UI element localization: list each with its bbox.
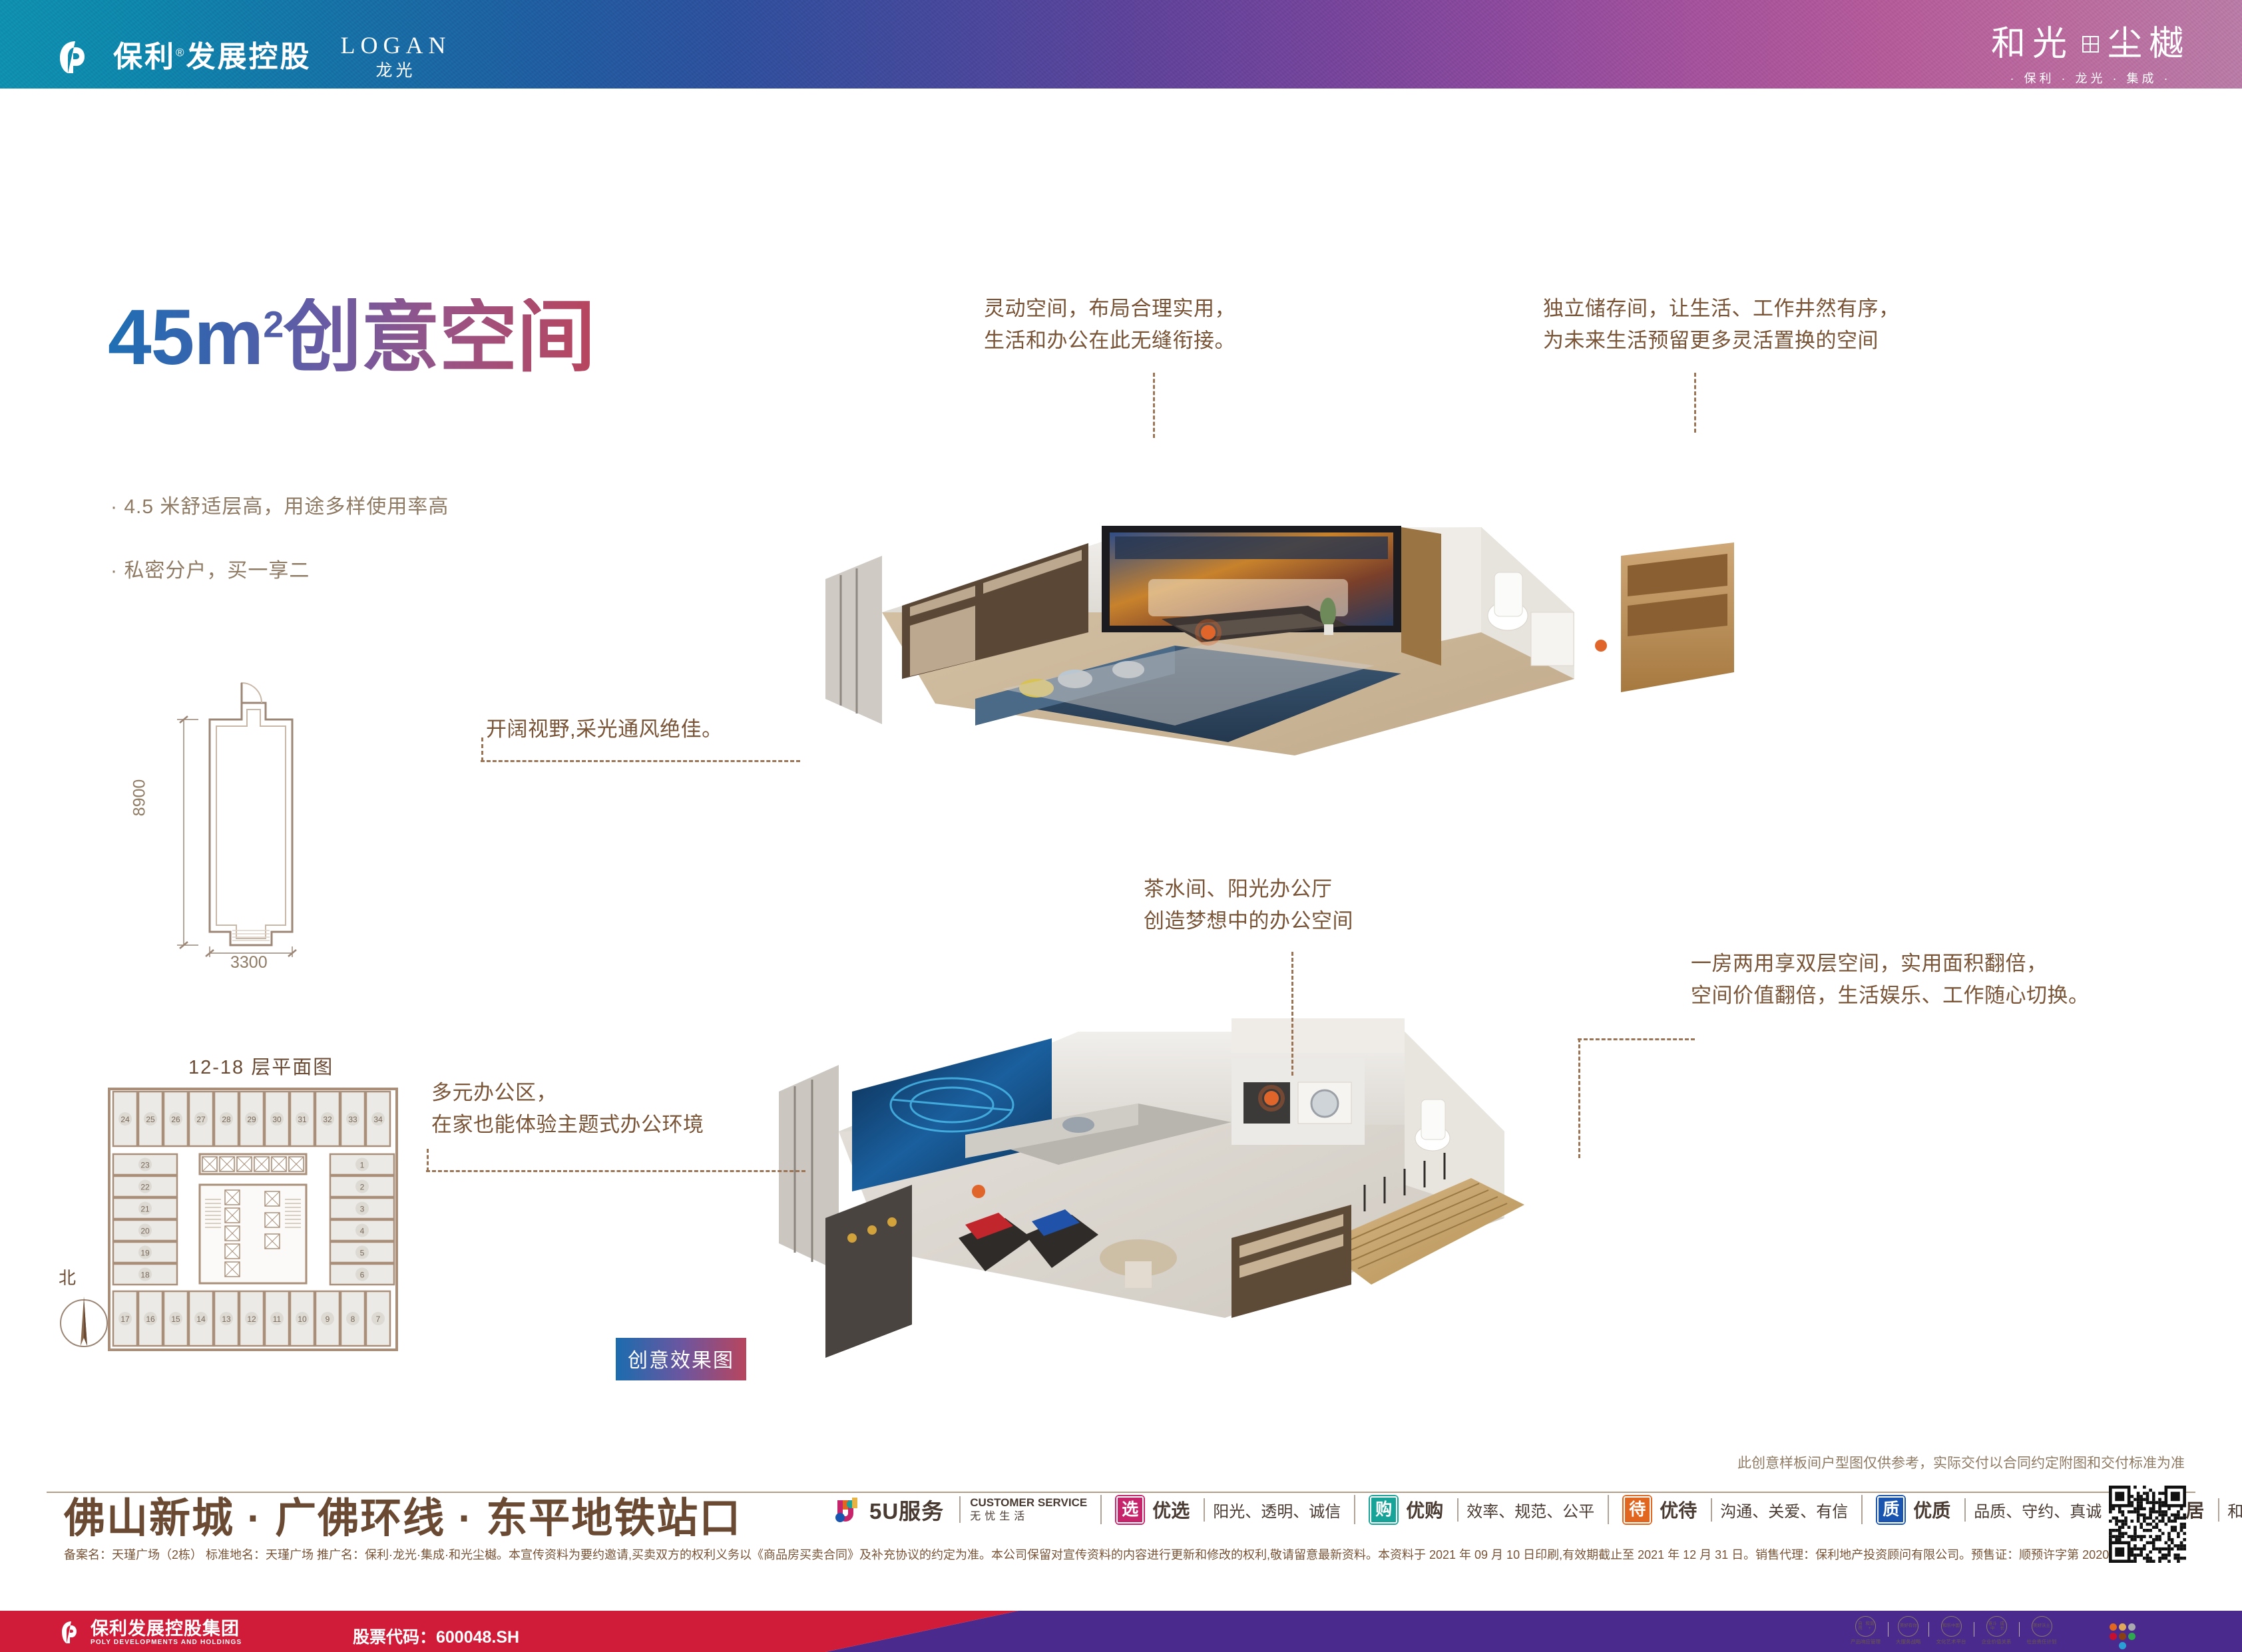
service-badges: 5U服务 CUSTOMER SERVICE 无忧生活 选 优选 阳光、透明、诚信… (833, 1494, 2242, 1526)
leader-top-right (1694, 373, 1696, 433)
unit-number: 28 (222, 1115, 231, 1124)
page-title: 45m2创意空间 (108, 298, 594, 377)
brand-value-caption: 产品响应管理 (1851, 1638, 1881, 1645)
callout-mid-right-line1: 一房两用享双层空间，实用面积翻倍， (1691, 948, 2090, 980)
leader-mid-right (1578, 1038, 1695, 1040)
location-slogan: 佛山新城 · 广佛环线 · 东平地铁站口 (64, 1484, 742, 1544)
youzhi-name: 优质 (1913, 1496, 1950, 1523)
legal-fineprint: 备案名：天瑾广场（2栋） 标准地名：天瑾广场 推广名：保利·龙光·集成·和光尘樾… (64, 1546, 2149, 1563)
unit-number: 9 (326, 1315, 330, 1324)
brand-value-icon: 和乐中国文化艺术平台 (1936, 1616, 1966, 1645)
unit-number: 18 (140, 1271, 150, 1280)
unit-number: 22 (140, 1183, 150, 1192)
unit-number: 6 (360, 1271, 365, 1280)
poly-logo-icon (57, 39, 93, 75)
bottom-bar: 保利发展控股集团 POLY DEVELOPMENTS AND HOLDINGS … (0, 1611, 2242, 1652)
service-5u-logo: 5U服务 CUSTOMER SERVICE 无忧生活 (833, 1494, 1087, 1526)
unit-number: 26 (171, 1115, 180, 1124)
brand-value-ring-icon: 奋斗中成长 (1986, 1616, 2007, 1637)
unit-number: 5 (360, 1249, 365, 1258)
divider (1354, 1495, 1355, 1524)
brand-value-caption: 文化艺术平台 (1936, 1638, 1966, 1645)
page-header: 保利®发展控股 LOGAN 龙光 和光 尘樾 · 保利 · 龙光 · 集成 · (0, 0, 2242, 89)
service-title: 5U服务 (869, 1494, 944, 1526)
leader-mid-left-tick (481, 737, 483, 761)
unit-number: 12 (247, 1315, 256, 1324)
callout-top-right-line1: 独立储存间，让生活、工作井然有序， (1543, 293, 1900, 325)
callout-bottom-left: 多元办公区， 在家也能体验主题式办公环境 (431, 1077, 704, 1141)
unit-number: 11 (273, 1315, 282, 1324)
dots-grid-icon (2110, 1623, 2135, 1649)
unit-number: 10 (298, 1315, 307, 1324)
unit-plan-height-dim: 8900 (130, 779, 149, 817)
divider (1608, 1495, 1609, 1524)
render-image-lower (766, 925, 1717, 1384)
leader-top-center (1153, 373, 1155, 438)
stock-code: 股票代码：600048.SH (353, 1624, 519, 1648)
callout-top-center: 灵动空间，布局合理实用， 生活和办公在此无缝衔接。 (984, 293, 1235, 357)
five-u-icon (833, 1495, 863, 1524)
poly-brand-cn: 保利 (113, 41, 176, 73)
qr-code[interactable] (2109, 1486, 2186, 1563)
divider (2019, 1622, 2020, 1637)
youxuan-desc: 阳光、透明、诚信 (1204, 1498, 1341, 1522)
floor-plan-diagram: 2425262728293031323334171615141312111098… (100, 1080, 406, 1359)
unit-number: 23 (140, 1161, 150, 1170)
unit-number: 16 (146, 1315, 155, 1324)
year-text-block: 2020 美好更好 不 负 产 生 名 美 好 平 台 (2141, 1617, 2227, 1652)
render-disclaimer: 此创意样板间户型图仅供参考，实际交付以合同约定附图和交付标准为准 (1737, 1452, 2185, 1472)
yougou-name: 优购 (1406, 1496, 1443, 1523)
youxuan-icon: 选 (1115, 1495, 1145, 1525)
unit-number: 1 (360, 1161, 365, 1170)
brand-value-ring-icon: 美好沃土 (2032, 1616, 2052, 1637)
callout-mid-left-line1: 开阔视野,采光通风绝佳。 (486, 714, 723, 745)
header-logos: 保利®发展控股 LOGAN 龙光 (57, 33, 451, 81)
service-item-yougou: 购 优购 效率、规范、公平 (1369, 1495, 1594, 1525)
unit-number: 13 (222, 1315, 231, 1324)
registered-icon: ® (176, 46, 186, 59)
poly-brand-cn2: 发展控股 (186, 41, 312, 73)
unit-number: 20 (140, 1227, 150, 1236)
brand-value-icon: 奋斗中成长企业价值关系 (1982, 1616, 2012, 1645)
callout-top-right-line2: 为未来生活预留更多灵活置换的空间 (1543, 325, 1900, 357)
yougou-desc: 效率、规范、公平 (1457, 1498, 1594, 1522)
unit-number: 24 (120, 1115, 130, 1124)
yougou-icon: 购 (1369, 1495, 1399, 1525)
brand-value-caption: 企业价值关系 (1982, 1638, 2012, 1645)
unit-number: 15 (171, 1315, 180, 1324)
unit-number: 2 (360, 1183, 365, 1192)
unit-plan-width-dim: 3300 (230, 953, 268, 972)
callout-mid-left: 开阔视野,采光通风绝佳。 (486, 714, 723, 745)
service-en-sub: 无忧生活 (970, 1510, 1087, 1524)
year-cn: 美好更好 (2141, 1635, 2227, 1651)
callout-mid-right: 一房两用享双层空间，实用面积翻倍， 空间价值翻倍，生活娱乐、工作随心切换。 (1691, 948, 2090, 1012)
floor-plan-title: 12-18 层平面图 (188, 1052, 334, 1080)
logan-en-text: LOGAN (341, 33, 451, 59)
hero-bullet-1: · 4.5 米舒适层高，用途多样使用率高 (111, 490, 449, 519)
project-name: 和光 尘樾 (1991, 27, 2190, 61)
brand-value-ring-icon: 和乐中国 (1941, 1616, 1962, 1637)
brand-value-caption: 大服务战略 (1896, 1638, 1921, 1645)
unit-number: 27 (196, 1115, 206, 1124)
callout-mid-center-line2: 创造梦想中的办公空间 (1144, 905, 1353, 937)
youju-desc: 和睦、关怀、亲情 (2218, 1498, 2242, 1522)
poly-brand-text: 保利®发展控股 (113, 43, 312, 72)
leader-bottom-left (426, 1170, 805, 1172)
unit-number: 25 (146, 1115, 155, 1124)
service-en-title: CUSTOMER SERVICE (970, 1496, 1087, 1510)
hero-title-num: 45m (108, 294, 263, 381)
youdai-name: 优待 (1660, 1496, 1697, 1523)
callout-bottom-left-line2: 在家也能体验主题式办公环境 (431, 1109, 704, 1141)
logan-cn-text: 龙光 (376, 60, 416, 82)
status-badge: 创意效果图 (616, 1338, 746, 1380)
youxuan-name: 优选 (1152, 1496, 1190, 1523)
callout-mid-right-line2: 空间价值翻倍，生活娱乐、工作随心切换。 (1691, 980, 2090, 1012)
year-campaign-logo: 2020 美好更好 不 负 产 生 名 美 好 平 台 (2110, 1617, 2227, 1652)
project-logo: 和光 尘樾 · 保利 · 龙光 · 集成 · (1991, 27, 2190, 87)
unit-number: 21 (140, 1205, 150, 1214)
unit-number: 30 (272, 1115, 282, 1124)
unit-outline-plan: 8900 3300 (124, 671, 410, 957)
leader-mid-right-drop (1578, 1038, 1580, 1158)
callout-mid-center-line1: 茶水间、阳光办公厅 (1144, 873, 1353, 905)
yougou-glyph: 购 (1370, 1496, 1397, 1524)
divider (1974, 1622, 1974, 1637)
project-name-a: 和光 (1991, 27, 2074, 61)
youdai-glyph: 待 (1624, 1496, 1651, 1524)
service-item-youdai: 待 优待 沟通、关爱、有信 (1622, 1495, 1848, 1525)
leader-mid-left (481, 760, 800, 762)
hero-bullet-2: · 私密分户，买一享二 (111, 554, 449, 583)
leader-bottom-left-tick (427, 1149, 429, 1171)
service-item-youzhi: 质 优质 品质、守约、真诚 (1876, 1495, 2102, 1525)
unit-number: 34 (373, 1115, 383, 1124)
unit-number: 8 (351, 1315, 355, 1324)
compass-icon (59, 1271, 132, 1358)
youdai-icon: 待 (1622, 1495, 1652, 1525)
poly-group-en: POLY DEVELOPMENTS AND HOLDINGS (91, 1639, 242, 1646)
render-image-upper (802, 413, 1831, 825)
hero-title-sup: 2 (263, 304, 283, 345)
unit-number: 29 (247, 1115, 256, 1124)
brand-value-ring-icon: 美好有你 (1898, 1616, 1918, 1637)
callout-top-center-line2: 生活和办公在此无缝衔接。 (984, 325, 1235, 357)
callout-top-right: 独立储存间，让生活、工作井然有序， 为未来生活预留更多灵活置换的空间 (1543, 293, 1900, 357)
leader-mid-center (1291, 952, 1293, 1076)
unit-number: 3 (360, 1205, 365, 1214)
youxuan-glyph: 选 (1116, 1496, 1144, 1524)
brand-value-caption: 社会责任计划 (2027, 1638, 2057, 1645)
brand-value-icon: 自然和谐+产品响应管理 (1851, 1616, 1881, 1645)
unit-number: 31 (298, 1115, 307, 1124)
brand-value-icons: 自然和谐+产品响应管理美好有你大服务战略和乐中国文化艺术平台奋斗中成长企业价值关… (1851, 1616, 2057, 1645)
service-en-block: CUSTOMER SERVICE 无忧生活 (959, 1496, 1087, 1523)
divider (1888, 1622, 1889, 1637)
brochure-page: 保利®发展控股 LOGAN 龙光 和光 尘樾 · 保利 · 龙光 · 集成 · … (0, 0, 2242, 1652)
youzhi-icon: 质 (1876, 1495, 1906, 1525)
divider (1100, 1495, 1102, 1524)
unit-number: 19 (140, 1249, 150, 1258)
hero-bullet-list: · 4.5 米舒适层高，用途多样使用率高 · 私密分户，买一享二 (111, 490, 449, 618)
poly-mark-icon (60, 1620, 83, 1645)
unit-number: 4 (360, 1227, 365, 1236)
poly-group-cn: 保利发展控股集团 (91, 1620, 242, 1639)
window-square-icon (2082, 36, 2099, 53)
year-number: 2020 (2141, 1617, 2227, 1635)
unit-number: 33 (348, 1115, 357, 1124)
brand-value-ring-icon: 自然和谐+ (1855, 1616, 1876, 1637)
unit-number: 7 (376, 1315, 381, 1324)
brand-value-icon: 美好有你大服务战略 (1896, 1616, 1921, 1645)
unit-number: 14 (196, 1315, 206, 1324)
youdai-desc: 沟通、关爱、有信 (1711, 1498, 1848, 1522)
divider (1928, 1622, 1929, 1637)
callout-mid-center: 茶水间、阳光办公厅 创造梦想中的办公空间 (1144, 873, 1353, 937)
callout-top-center-line1: 灵动空间，布局合理实用， (984, 293, 1235, 325)
service-item-youxuan: 选 优选 阳光、透明、诚信 (1115, 1495, 1341, 1525)
poly-group-logo: 保利发展控股集团 POLY DEVELOPMENTS AND HOLDINGS (60, 1620, 242, 1646)
youzhi-glyph: 质 (1877, 1496, 1905, 1524)
divider (1861, 1495, 1863, 1524)
hero-title-cn: 创意空间 (283, 294, 594, 381)
unit-number: 32 (323, 1115, 332, 1124)
logan-logo: LOGAN 龙光 (341, 33, 451, 81)
project-subtitle: · 保利 · 龙光 · 集成 · (1991, 69, 2190, 87)
callout-bottom-left-line1: 多元办公区， (431, 1077, 704, 1109)
youzhi-desc: 品质、守约、真诚 (1964, 1498, 2102, 1522)
brand-value-icon: 美好沃土社会责任计划 (2027, 1616, 2057, 1645)
project-name-b: 尘樾 (2108, 27, 2190, 61)
